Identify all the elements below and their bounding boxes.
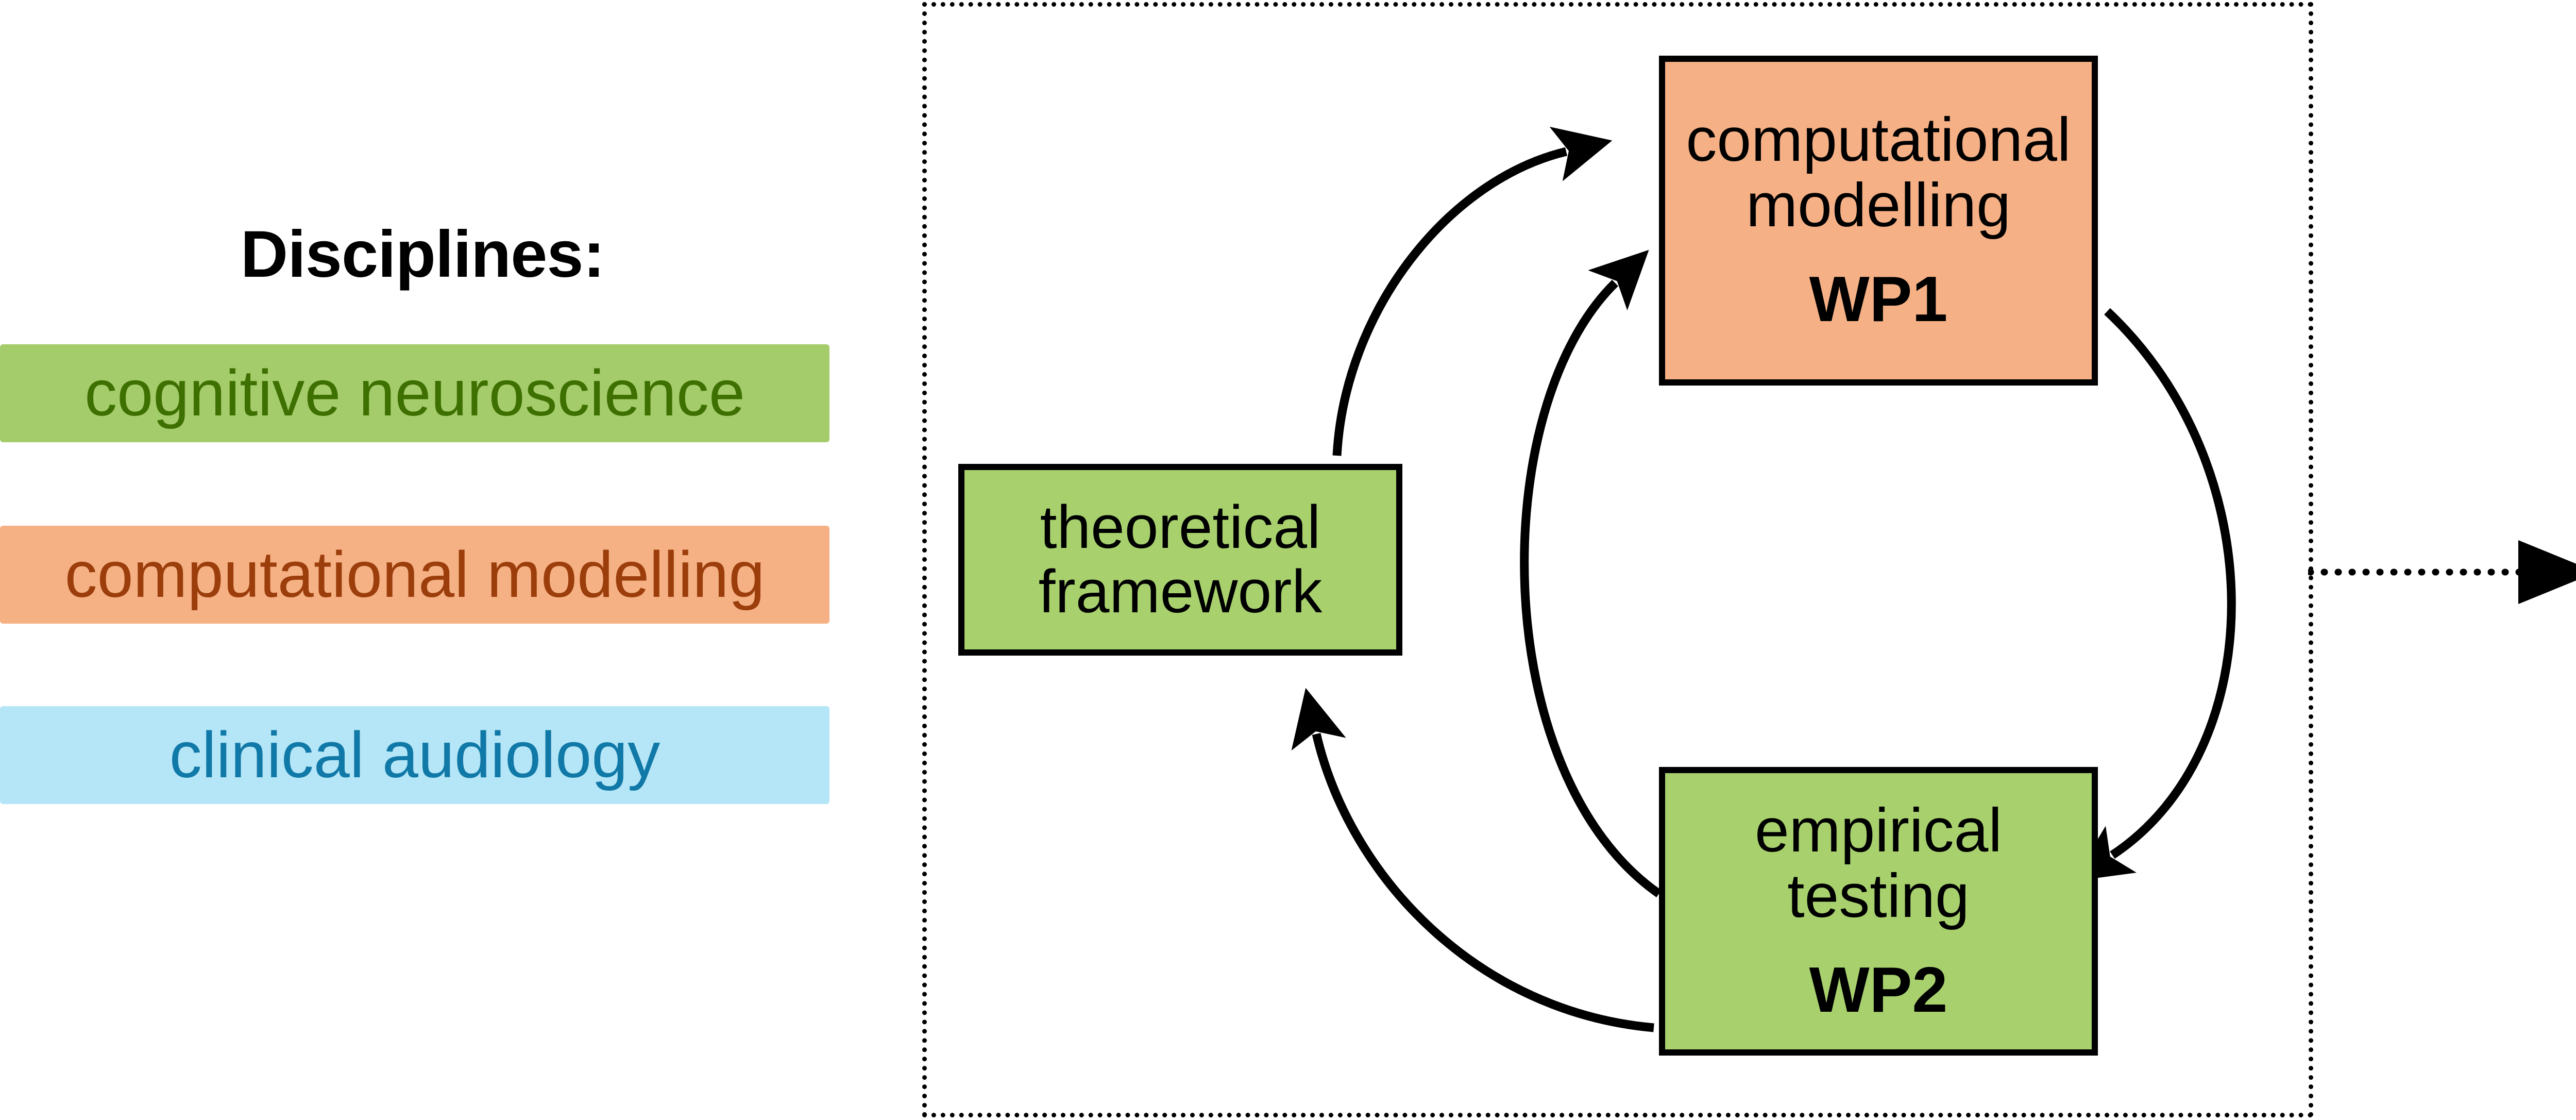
legend-item-computational-modelling: computational modelling [0, 526, 829, 624]
node-theoretical-framework[interactable]: theoretical framework [958, 464, 1402, 656]
disciplines-legend: Disciplines: cognitive neuroscience comp… [0, 206, 845, 835]
legend-item-label: clinical audiology [170, 723, 660, 788]
legend-item-label: cognitive neuroscience [84, 361, 745, 426]
node-work-package-label: WP2 [1809, 957, 1948, 1024]
edge-cycle-to-clinical-applications [2308, 515, 2576, 629]
legend-item-clinical-audiology: clinical audiology [0, 706, 829, 804]
node-computational-modelling[interactable]: computational modelling WP1 [1659, 56, 2098, 386]
node-title: computational modelling [1686, 107, 2071, 238]
legend-item-label: computational modelling [65, 542, 765, 607]
node-title: theoretical framework [1039, 495, 1323, 624]
cycle-container: theoretical framework computational mode… [922, 2, 2313, 1117]
node-title: empirical testing [1755, 798, 2002, 929]
arrowhead-icon [2518, 540, 2576, 604]
legend-item-cognitive-neuroscience: cognitive neuroscience [0, 344, 829, 442]
node-work-package-label: WP1 [1809, 266, 1948, 333]
legend-title: Disciplines: [0, 222, 845, 288]
node-empirical-testing[interactable]: empirical testing WP2 [1659, 767, 2098, 1056]
